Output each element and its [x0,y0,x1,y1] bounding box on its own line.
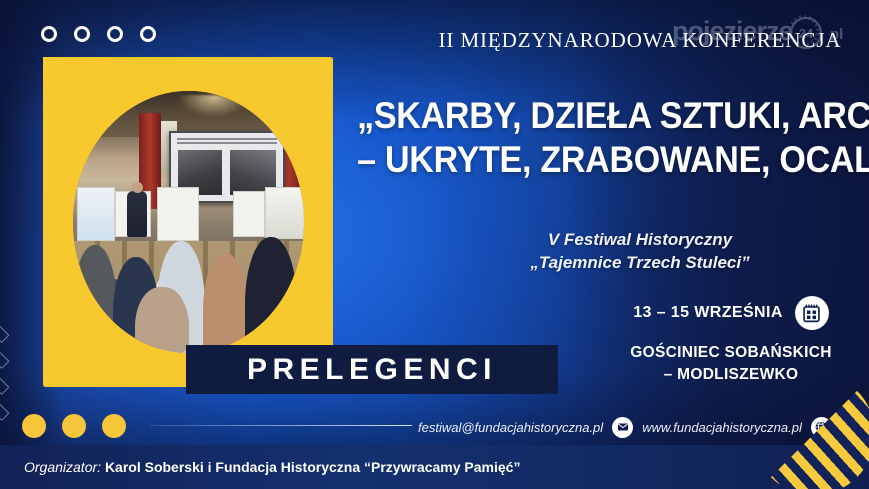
speaker-photo-frame [43,57,333,387]
subtitle-line-1: V Festiwal Historyczny [420,228,860,251]
yellow-dot-icon [62,414,86,438]
watermark-badge: 24 [790,17,822,49]
subtitle-line-2: „Tajemnice Trzech Stuleci” [420,251,860,274]
contact-strip: festiwal@fundacjahistoryczna.pl www.fund… [418,415,862,439]
event-dates: 13 – 15 WRZEŚNIA [600,296,862,330]
watermark-suffix: pl [830,26,843,43]
organizer-bar: Organizator: Karol Soberski i Fundacja H… [0,445,869,489]
ring-dot-icon [41,26,57,42]
title-line-1: „SKARBY, DZIEŁA SZTUKI, ARCHIWA [357,94,843,138]
yellow-dots-decoration [22,414,126,438]
prelegenci-banner: PRELEGENCI [186,345,558,394]
ring-dot-icon [107,26,123,42]
venue-line-2: – MODLISZEWKO [600,364,862,386]
watermark: pojezierze 24 pl [672,14,862,50]
page-title: „SKARBY, DZIEŁA SZTUKI, ARCHIWA – UKRYTE… [336,94,864,182]
title-line-2: – UKRYTE, ZRABOWANE, OCALONE” [357,138,843,182]
organizer-label: Organizator: [24,459,101,475]
event-venue: GOŚCINIEC SOBAŃSKICH – MODLISZEWKO [600,342,862,386]
yellow-dot-icon [22,414,46,438]
venue-line-1: GOŚCINIEC SOBAŃSKICH [600,342,862,364]
calendar-icon [795,296,829,330]
conference-audience-photo [73,91,304,353]
envelope-icon [612,417,633,438]
contact-email[interactable]: festiwal@fundacjahistoryczna.pl [418,420,603,435]
yellow-dot-icon [102,414,126,438]
prelegenci-label: PRELEGENCI [247,353,497,387]
festival-subtitle: V Festiwal Historyczny „Tajemnice Trzech… [420,228,860,274]
organizer-name: Karol Soberski i Fundacja Historyczna “P… [105,459,521,475]
ring-dots-decoration [41,26,156,42]
contact-rule [150,425,412,426]
ring-dot-icon [74,26,90,42]
conference-poster: PRELEGENCI II MIĘDZYNARODOWA KONFERENCJA… [0,0,869,489]
watermark-text: pojezierze [672,16,793,47]
contact-website[interactable]: www.fundacjahistoryczna.pl [642,420,802,435]
event-date-text: 13 – 15 WRZEŚNIA [633,304,783,322]
ring-dot-icon [140,26,156,42]
